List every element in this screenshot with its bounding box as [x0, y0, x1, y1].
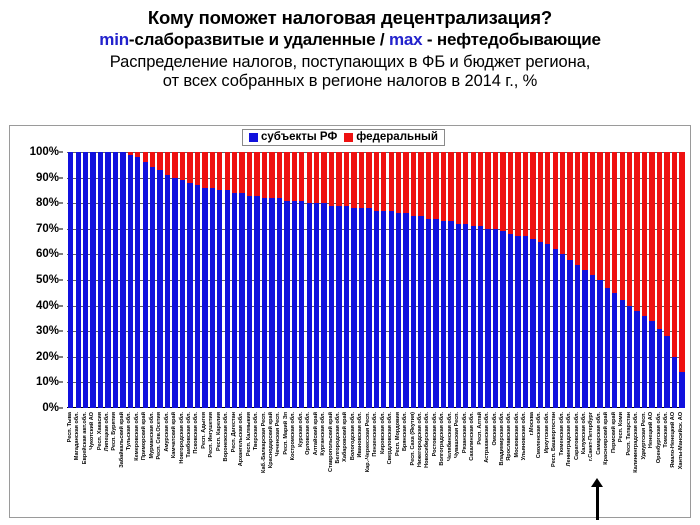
bar-segment-federal [553, 152, 558, 249]
bar[interactable] [604, 152, 611, 408]
bar-inner [105, 152, 110, 408]
title-max-highlight: max [389, 30, 422, 49]
bar-inner [269, 152, 274, 408]
bar-inner [560, 152, 565, 408]
x-tick-label-text: Ямало-Ненецкий АО [672, 412, 678, 468]
bar[interactable] [119, 152, 126, 408]
bar-segment-federal [560, 152, 565, 254]
x-tick-label-text: Пермский край [612, 412, 618, 453]
x-tick-label-text: Ставропольский край [329, 412, 335, 472]
bar[interactable] [112, 152, 119, 408]
bar[interactable] [477, 152, 484, 408]
bar-segment-federal [254, 152, 259, 196]
bar-segment-subjects [403, 213, 408, 408]
bar-inner [620, 152, 625, 408]
bar[interactable] [335, 152, 342, 408]
bar-segment-subjects [195, 185, 200, 408]
x-tick-label-text: Приморский край [142, 412, 148, 460]
bar-segment-federal [165, 152, 170, 175]
bar[interactable] [134, 152, 141, 408]
x-tick-label-text: Еврейская авт.обл. [83, 412, 89, 464]
bar-segment-federal [657, 152, 662, 329]
bar-segment-subjects [642, 316, 647, 408]
bar[interactable] [387, 152, 394, 408]
bar[interactable] [238, 152, 245, 408]
x-tick-label-text: Архангельская обл. [239, 412, 245, 466]
bar-segment-subjects [560, 254, 565, 408]
x-tick-label-text: Челябинская обл. [448, 412, 454, 461]
bar-segment-subjects [284, 201, 289, 408]
x-tick-label: Респ. Бурятия [112, 411, 119, 516]
bar[interactable] [514, 152, 521, 408]
bar-inner [530, 152, 535, 408]
bar-segment-federal [396, 152, 401, 213]
x-tick-label: Воронежская обл. [224, 411, 231, 516]
x-tick-label: Калининградская обл. [633, 411, 640, 516]
bar-inner [247, 152, 252, 408]
x-tick-label-text: Вологодская обл. [351, 412, 357, 460]
bar-inner [120, 152, 125, 408]
bar-inner [195, 152, 200, 408]
bar[interactable] [484, 152, 491, 408]
bar-segment-subjects [299, 201, 304, 408]
bar[interactable] [149, 152, 156, 408]
legend-item-subjects: субъекты РФ [249, 131, 337, 143]
x-tick-label-text: Мурманская обл. [150, 412, 156, 459]
x-tick-label-text: Респ. Тыва [68, 412, 74, 442]
bar-segment-federal [478, 152, 483, 226]
bar-inner [217, 152, 222, 408]
bar-inner [277, 152, 282, 408]
bar-segment-federal [649, 152, 654, 321]
x-tick-label: Тульская обл. [127, 411, 134, 516]
bar[interactable] [350, 152, 357, 408]
bar[interactable] [671, 152, 678, 408]
bar-inner [403, 152, 408, 408]
bar[interactable] [522, 152, 529, 408]
bar[interactable] [402, 152, 409, 408]
bar-inner [515, 152, 520, 408]
bar-segment-federal [157, 152, 162, 170]
x-tick-label-text: Кемеровская обл. [135, 412, 141, 461]
x-tick-label-text: Московская обл. [515, 412, 521, 458]
bar-segment-federal [307, 152, 312, 203]
bar[interactable] [194, 152, 201, 408]
legend-swatch-subjects [249, 133, 258, 142]
bar-segment-subjects [590, 275, 595, 408]
bar[interactable] [276, 152, 283, 408]
bar-segment-subjects [493, 229, 498, 408]
bar-segment-federal [225, 152, 230, 190]
bar[interactable] [566, 152, 573, 408]
bar[interactable] [253, 152, 260, 408]
bar-segment-subjects [307, 203, 312, 408]
bar-inner [679, 152, 684, 408]
y-tick-mark [59, 203, 63, 204]
bar-segment-federal [351, 152, 356, 208]
x-tick-label-text: Магаданская обл. [75, 412, 81, 460]
x-tick-label: Новгородская обл. [179, 411, 186, 516]
bar-inner [135, 152, 140, 408]
bar-inner [389, 152, 394, 408]
bar[interactable] [201, 152, 208, 408]
bar-inner [321, 152, 326, 408]
x-tick-label: Архангельская обл. [238, 411, 245, 516]
bar[interactable] [179, 152, 186, 408]
bar[interactable] [380, 152, 387, 408]
bar[interactable] [633, 152, 640, 408]
bar-segment-federal [232, 152, 237, 193]
bar-segment-subjects [553, 249, 558, 408]
bar-inner [538, 152, 543, 408]
bar[interactable] [537, 152, 544, 408]
bar[interactable] [306, 152, 313, 408]
x-tick-label-text: г.Москва [530, 412, 536, 435]
bar-segment-subjects [448, 221, 453, 408]
x-tick-label-text: Респ. Хакасия [98, 412, 104, 450]
bar-segment-federal [366, 152, 371, 208]
y-tick-label: 100% [30, 146, 59, 158]
bar-segment-federal [620, 152, 625, 300]
x-tick-label-text: Калининградская обл. [634, 412, 640, 473]
bar-inner [76, 152, 81, 408]
bar[interactable] [462, 152, 469, 408]
x-tick-label-text: Брянская обл. [403, 412, 409, 451]
bar-segment-federal [277, 152, 282, 198]
x-tick-label: Респ. Калмыкия [246, 411, 253, 516]
x-tick-label: Свердловская обл. [387, 411, 394, 516]
legend-swatch-federal [344, 133, 353, 142]
bar[interactable] [313, 152, 320, 408]
bar-segment-federal [471, 152, 476, 226]
bar-inner [314, 152, 319, 408]
y-tick-label: 20% [36, 351, 59, 363]
x-tick-label-text: Тверская обл. [254, 412, 260, 450]
bar-segment-subjects [389, 211, 394, 408]
x-tick-label-text: Респ. Ингушетия [210, 412, 216, 457]
bar[interactable] [469, 152, 476, 408]
x-tick-label-text: Хабаровский край [344, 412, 350, 462]
bar-inner [232, 152, 237, 408]
bar-segment-federal [336, 152, 341, 206]
bar-segment-subjects [426, 219, 431, 408]
bar[interactable] [626, 152, 633, 408]
x-tick-label-text: Ульяновская обл. [523, 412, 529, 460]
bar-segment-subjects [485, 229, 490, 408]
bar[interactable] [425, 152, 432, 408]
bar[interactable] [395, 152, 402, 408]
bar-inner [448, 152, 453, 408]
bar-inner [433, 152, 438, 408]
bar-inner [68, 152, 73, 408]
bar-segment-subjects [634, 311, 639, 408]
bar-segment-federal [672, 152, 677, 357]
bar[interactable] [156, 152, 163, 408]
bar[interactable] [283, 152, 290, 408]
bar[interactable] [373, 152, 380, 408]
bar-inner [411, 152, 416, 408]
bar-inner [649, 152, 654, 408]
bar[interactable] [97, 152, 104, 408]
x-tick-label: Ульяновская обл. [522, 411, 529, 516]
bar-segment-subjects [620, 300, 625, 408]
bar-segment-federal [187, 152, 192, 183]
bar[interactable] [507, 152, 514, 408]
bar[interactable] [261, 152, 268, 408]
bar[interactable] [74, 152, 81, 408]
bar-segment-federal [448, 152, 453, 221]
bar[interactable] [89, 152, 96, 408]
arrow-shaft [596, 485, 599, 520]
bar[interactable] [596, 152, 603, 408]
y-tick-label: 40% [36, 300, 59, 312]
x-tick-label-text: Респ. Коми [619, 412, 625, 442]
bar-segment-subjects [471, 226, 476, 408]
bar-inner [478, 152, 483, 408]
bar[interactable] [581, 152, 588, 408]
bar-series-container [67, 152, 685, 408]
x-tick-label-text: Респ. Дагестан [232, 412, 238, 452]
bar-segment-federal [180, 152, 185, 180]
bar[interactable] [432, 152, 439, 408]
y-tick-mark [59, 382, 63, 383]
bar-segment-subjects [143, 162, 148, 408]
x-tick-label-text: Белгородская обл. [336, 412, 342, 463]
title-line-4: от всех собранных в регионе налогов в 20… [0, 72, 700, 91]
x-tick-label: Респ. Хакасия [97, 411, 104, 516]
bar[interactable] [104, 152, 111, 408]
bar-segment-subjects [396, 213, 401, 408]
bar[interactable] [67, 152, 74, 408]
bar-segment-federal [359, 152, 364, 208]
bar-inner [262, 152, 267, 408]
x-tick-label-text: Иркутская обл. [545, 412, 551, 453]
x-tick-label: Ненецкий АО [648, 411, 655, 516]
y-tick-mark [59, 280, 63, 281]
bar-segment-subjects [530, 239, 535, 408]
bar-segment-subjects [612, 293, 617, 408]
x-tick-label-text: Кар.-Черкесская Респ. [366, 412, 372, 472]
bar[interactable] [440, 152, 447, 408]
y-tick-label: 0% [42, 402, 59, 414]
x-tick-label-text: Респ. Бурятия [113, 412, 119, 451]
x-tick-label: Каб.-Балкарская Респ. [261, 411, 268, 516]
x-tick-label: Пензенская обл. [373, 411, 380, 516]
x-tick-label-text: Удмуртская Респ. [642, 412, 648, 460]
x-tick-label-text: Красноярский край [605, 412, 611, 465]
bar-segment-federal [292, 152, 297, 201]
bar-segment-federal [634, 152, 639, 311]
bar[interactable] [544, 152, 551, 408]
bar-segment-federal [590, 152, 595, 275]
bar-inner [567, 152, 572, 408]
x-tick-label-text: Чукотский АО [90, 412, 96, 450]
bar[interactable] [499, 152, 506, 408]
up-arrow-annotation-icon [591, 478, 604, 520]
title-block: Кому поможет налоговая децентрализация? … [0, 0, 700, 92]
bar-inner [664, 152, 669, 408]
bar-segment-subjects [374, 211, 379, 408]
x-tick-label-text: Омская обл. [493, 412, 499, 446]
bar-segment-subjects [463, 224, 468, 408]
bar-inner [157, 152, 162, 408]
bar[interactable] [492, 152, 499, 408]
x-tick-label-text: Саратовская обл. [575, 412, 581, 460]
x-tick-label-text: Смоленская обл. [537, 412, 543, 458]
x-tick-label-text: Костромская обл. [292, 412, 298, 460]
bar-inner [225, 152, 230, 408]
bar-segment-subjects [336, 206, 341, 408]
x-tick-label-text: Ненецкий АО [649, 412, 655, 448]
bar-inner [180, 152, 185, 408]
bar[interactable] [574, 152, 581, 408]
bar[interactable] [656, 152, 663, 408]
bar-segment-subjects [411, 216, 416, 408]
bar-segment-subjects [239, 193, 244, 408]
bar[interactable] [268, 152, 275, 408]
x-tick-label-text: Пензенская обл. [374, 412, 380, 457]
bar[interactable] [127, 152, 134, 408]
bar-inner [150, 152, 155, 408]
bar-segment-federal [262, 152, 267, 198]
bar-segment-subjects [76, 152, 81, 408]
bar-segment-federal [575, 152, 580, 265]
x-tick-label-text: Свердловская обл. [388, 412, 394, 464]
bar-inner [336, 152, 341, 408]
bar[interactable] [231, 152, 238, 408]
bar-segment-federal [664, 152, 669, 336]
bar-segment-subjects [105, 152, 110, 408]
bar[interactable] [559, 152, 566, 408]
x-tick-label-text: Курганская обл. [321, 412, 327, 456]
bar-segment-subjects [187, 183, 192, 408]
bar[interactable] [410, 152, 417, 408]
bar[interactable] [246, 152, 253, 408]
chart-frame: субъекты РФ федеральный 0%10%20%30%40%50… [9, 125, 691, 518]
x-tick-label: Ханты-Мансийск. АО [678, 411, 685, 516]
bar[interactable] [678, 152, 685, 408]
bar-inner [187, 152, 192, 408]
x-tick-label: Ярославская обл. [507, 411, 514, 516]
x-tick-label: Астраханская обл. [484, 411, 491, 516]
bar-inner [612, 152, 617, 408]
x-tick-label-text: Новгородская обл. [180, 412, 186, 464]
bar[interactable] [164, 152, 171, 408]
bar[interactable] [209, 152, 216, 408]
x-tick-label-text: Калужская обл. [582, 412, 588, 454]
bar-inner [523, 152, 528, 408]
bar-inner [627, 152, 632, 408]
bar-segment-subjects [664, 336, 669, 408]
x-tick-label-text: Краснодарский край [269, 412, 275, 468]
bar[interactable] [529, 152, 536, 408]
bar-segment-subjects [120, 152, 125, 408]
bar-segment-federal [403, 152, 408, 213]
bar[interactable] [142, 152, 149, 408]
bar[interactable] [611, 152, 618, 408]
bar-segment-subjects [351, 208, 356, 408]
x-tick-label-text: Сахалинская обл. [470, 412, 476, 461]
bar[interactable] [291, 152, 298, 408]
x-tick-label: Красноярский край [604, 411, 611, 516]
bar[interactable] [663, 152, 670, 408]
x-tick-label-text: Волгоградская обл. [441, 412, 447, 466]
bar[interactable] [641, 152, 648, 408]
bar-segment-federal [344, 152, 349, 206]
bar-inner [597, 152, 602, 408]
bar[interactable] [648, 152, 655, 408]
bar-inner [113, 152, 118, 408]
bar[interactable] [328, 152, 335, 408]
bar[interactable] [417, 152, 424, 408]
x-tick-label: Ивановская обл. [358, 411, 365, 516]
bar-segment-subjects [247, 196, 252, 408]
bar-inner [426, 152, 431, 408]
y-tick-label: 30% [36, 325, 59, 337]
bar-segment-federal [433, 152, 438, 219]
bar-segment-federal [195, 152, 200, 185]
bar[interactable] [224, 152, 231, 408]
bar-segment-federal [500, 152, 505, 231]
x-tick-label-text: Псковская обл. [195, 412, 201, 454]
bar[interactable] [619, 152, 626, 408]
bar-segment-subjects [672, 357, 677, 408]
x-tick-label: Костромская обл. [291, 411, 298, 516]
x-tick-label-text: Респ. Башкортостан [552, 412, 558, 467]
bar-inner [90, 152, 95, 408]
bar[interactable] [365, 152, 372, 408]
bar-inner [500, 152, 505, 408]
bar[interactable] [447, 152, 454, 408]
bar-segment-subjects [68, 152, 73, 408]
bar-segment-subjects [314, 203, 319, 408]
y-tick-label: 80% [36, 197, 59, 209]
bar[interactable] [320, 152, 327, 408]
x-tick-label-text: Кировская обл. [381, 412, 387, 454]
x-tick-label: Курганская обл. [320, 411, 327, 516]
bar-segment-subjects [500, 231, 505, 408]
bar-inner [605, 152, 610, 408]
bar-segment-subjects [232, 193, 237, 408]
bar[interactable] [358, 152, 365, 408]
bar-segment-subjects [575, 265, 580, 408]
bar[interactable] [186, 152, 193, 408]
bar[interactable] [551, 152, 558, 408]
bar-segment-federal [582, 152, 587, 270]
y-tick-mark [59, 177, 63, 178]
bar[interactable] [455, 152, 462, 408]
bar-segment-federal [321, 152, 326, 203]
bar[interactable] [82, 152, 89, 408]
bar[interactable] [216, 152, 223, 408]
bar-inner [284, 152, 289, 408]
bar[interactable] [343, 152, 350, 408]
bar[interactable] [298, 152, 305, 408]
bar[interactable] [171, 152, 178, 408]
bar-segment-subjects [277, 198, 282, 408]
x-tick-label: Новосибирская обл. [425, 411, 432, 516]
x-tick-label: Респ. Саха (Якутия) [410, 411, 417, 516]
y-tick-mark [59, 356, 63, 357]
bar[interactable] [589, 152, 596, 408]
y-tick-label: 60% [36, 248, 59, 260]
x-tick-label-text: Респ. Карелия [217, 412, 223, 451]
bar-inner [471, 152, 476, 408]
bar-segment-subjects [418, 216, 423, 408]
bar-segment-federal [530, 152, 535, 239]
y-axis-labels: 0%10%20%30%40%50%60%70%80%90%100% [10, 152, 63, 408]
bar-segment-federal [538, 152, 543, 242]
